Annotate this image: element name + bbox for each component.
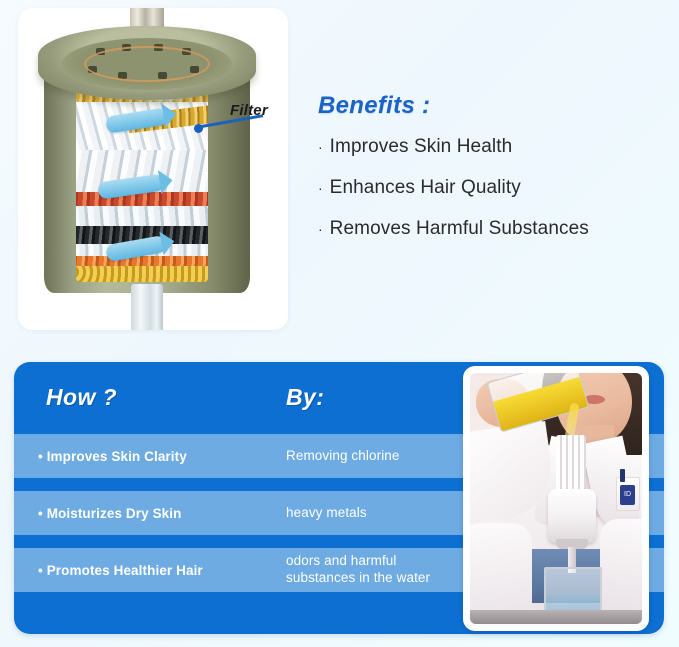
filter-tubes [556, 435, 586, 497]
bullet-icon: • [38, 449, 43, 464]
lab-coat-panel [470, 523, 532, 624]
column-header-by: By: [286, 384, 324, 411]
row-how-cell: • Improves Skin Clarity [14, 449, 286, 464]
benefits-section: Benefits : · Improves Skin Health · Enha… [318, 92, 668, 259]
row-how-cell: • Promotes Healthier Hair [14, 563, 286, 578]
benefit-item: · Enhances Hair Quality [318, 177, 668, 199]
row-by-label: heavy metals [286, 505, 367, 522]
column-header-how: How ? [46, 384, 117, 411]
row-by-label: Removing chlorine [286, 448, 400, 465]
bullet-icon: • [38, 563, 43, 578]
benefit-label: Enhances Hair Quality [330, 177, 521, 199]
row-how-label: Improves Skin Clarity [47, 449, 187, 464]
benefit-item: · Improves Skin Health [318, 136, 668, 158]
bullet-icon: • [38, 506, 43, 521]
media-layer-gold-beads [76, 266, 208, 282]
counter-surface [470, 610, 642, 624]
bullet-icon: · [318, 140, 323, 154]
top-section: Filter Benefits : · Improves Skin Health… [0, 0, 679, 345]
lab-coat-panel [600, 519, 642, 624]
benefit-label: Improves Skin Health [330, 136, 513, 158]
id-badge: ID [620, 485, 635, 505]
row-how-label: Promotes Healthier Hair [47, 563, 203, 578]
row-how-cell: • Moisturizes Dry Skin [14, 506, 286, 521]
benefit-label: Removes Harmful Substances [330, 218, 589, 240]
scientist-photo: ID [470, 373, 642, 624]
row-how-label: Moisturizes Dry Skin [47, 506, 182, 521]
filter-lid-copper-ring [84, 46, 210, 82]
benefit-item: · Removes Harmful Substances [318, 218, 668, 240]
filter-callout: Filter [196, 104, 306, 140]
photo-card: ID [463, 366, 649, 631]
filter-media-window [76, 74, 208, 282]
bullet-icon: · [318, 181, 323, 195]
row-by-label: odors and harmful substances in the wate… [286, 553, 430, 587]
filter-illustration-card [18, 8, 288, 330]
benefits-title: Benefits : [318, 92, 668, 120]
bullet-icon: · [318, 222, 323, 236]
filter-callout-label: Filter [230, 102, 268, 119]
outlet-tube [131, 284, 163, 330]
pen-icon [620, 469, 625, 482]
shower-filter-device [548, 489, 596, 543]
callout-dot-icon [194, 124, 203, 133]
